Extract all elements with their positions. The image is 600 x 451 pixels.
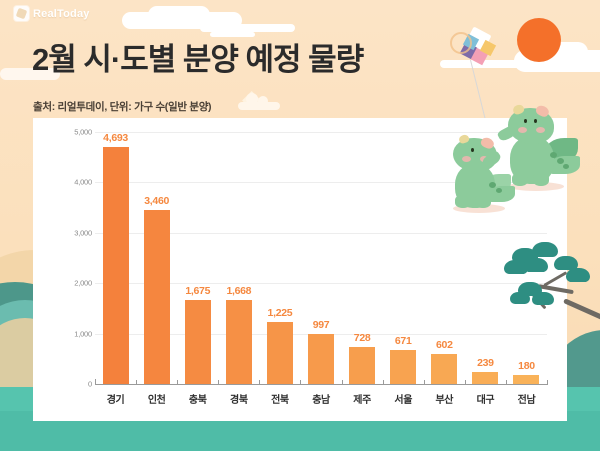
brand-name: RealToday bbox=[33, 8, 90, 20]
bar[interactable] bbox=[267, 322, 293, 384]
x-axis-label: 서울 bbox=[383, 391, 424, 406]
bar-item[interactable]: 4,693 bbox=[95, 132, 136, 384]
bar-value-label: 728 bbox=[354, 332, 371, 344]
cloud-swirl-icon bbox=[258, 96, 268, 106]
x-axis-label: 충남 bbox=[300, 391, 341, 406]
bar-value-label: 602 bbox=[436, 339, 453, 351]
bar-item[interactable]: 1,668 bbox=[218, 132, 259, 384]
brand-logo[interactable]: RealToday bbox=[14, 6, 90, 21]
sun-icon bbox=[517, 18, 561, 62]
infographic-canvas: ❖ RealToday 2월 시·도별 분양 예정 물량 출처: 리얼투데이, … bbox=[0, 0, 600, 451]
realtoday-logo-icon bbox=[14, 6, 29, 21]
y-axis-tick-label: 1,000 bbox=[32, 329, 92, 338]
bar[interactable] bbox=[308, 334, 334, 384]
bar-value-label: 1,675 bbox=[185, 285, 210, 297]
bar[interactable] bbox=[513, 375, 539, 384]
bar-value-label: 3,460 bbox=[144, 195, 169, 207]
x-axis-label: 전북 bbox=[259, 391, 300, 406]
bar-item[interactable]: 671 bbox=[383, 132, 424, 384]
bar-item[interactable]: 1,225 bbox=[259, 132, 300, 384]
bar[interactable] bbox=[226, 300, 252, 384]
kite-icon bbox=[462, 28, 502, 68]
x-axis-label: 충북 bbox=[177, 391, 218, 406]
y-axis-tick-label: 2,000 bbox=[32, 279, 92, 288]
bar[interactable] bbox=[103, 147, 129, 384]
x-axis-label: 경북 bbox=[218, 391, 259, 406]
x-axis-label: 경기 bbox=[95, 391, 136, 406]
y-axis-tick-label: 5,000 bbox=[32, 128, 92, 137]
bar[interactable] bbox=[431, 354, 457, 384]
cloud-icon bbox=[200, 24, 295, 32]
x-axis-label: 부산 bbox=[424, 391, 465, 406]
bar-value-label: 239 bbox=[477, 357, 494, 369]
bar-item[interactable]: 997 bbox=[300, 132, 341, 384]
pine-branch-icon bbox=[498, 240, 600, 350]
x-axis-label: 대구 bbox=[465, 391, 506, 406]
y-axis-tick-label: 3,000 bbox=[32, 228, 92, 237]
x-axis-tickmark bbox=[547, 380, 548, 385]
bar-value-label: 180 bbox=[518, 360, 535, 372]
y-axis-tick-label: 4,000 bbox=[32, 178, 92, 187]
bar-item[interactable]: 3,460 bbox=[136, 132, 177, 384]
bar[interactable] bbox=[472, 372, 498, 384]
bar-value-label: 1,225 bbox=[268, 307, 293, 319]
bar[interactable] bbox=[390, 350, 416, 384]
y-axis-tick-label: 0 bbox=[32, 380, 92, 389]
dragon-character-icon bbox=[443, 134, 519, 214]
page-title: 2월 시·도별 분양 예정 물량 bbox=[32, 34, 363, 79]
bar-item[interactable]: 1,675 bbox=[177, 132, 218, 384]
bar-value-label: 1,668 bbox=[226, 285, 251, 297]
cloud-swirl-icon bbox=[246, 93, 258, 105]
bar-value-label: 997 bbox=[313, 319, 330, 331]
bar[interactable] bbox=[144, 210, 170, 384]
x-axis-labels: 경기인천충북경북전북충남제주서울부산대구전남 bbox=[95, 391, 547, 406]
x-axis-label: 전남 bbox=[506, 391, 547, 406]
bar-item[interactable]: 728 bbox=[342, 132, 383, 384]
page-subtitle: 출처: 리얼투데이, 단위: 가구 수(일반 분양) bbox=[33, 99, 211, 114]
bar[interactable] bbox=[185, 300, 211, 384]
bar[interactable] bbox=[349, 347, 375, 384]
bar-value-label: 4,693 bbox=[103, 132, 128, 144]
x-axis-label: 제주 bbox=[342, 391, 383, 406]
x-axis-line bbox=[95, 384, 547, 385]
cloud-icon bbox=[148, 6, 210, 24]
bar-value-label: 671 bbox=[395, 335, 412, 347]
x-axis-label: 인천 bbox=[136, 391, 177, 406]
